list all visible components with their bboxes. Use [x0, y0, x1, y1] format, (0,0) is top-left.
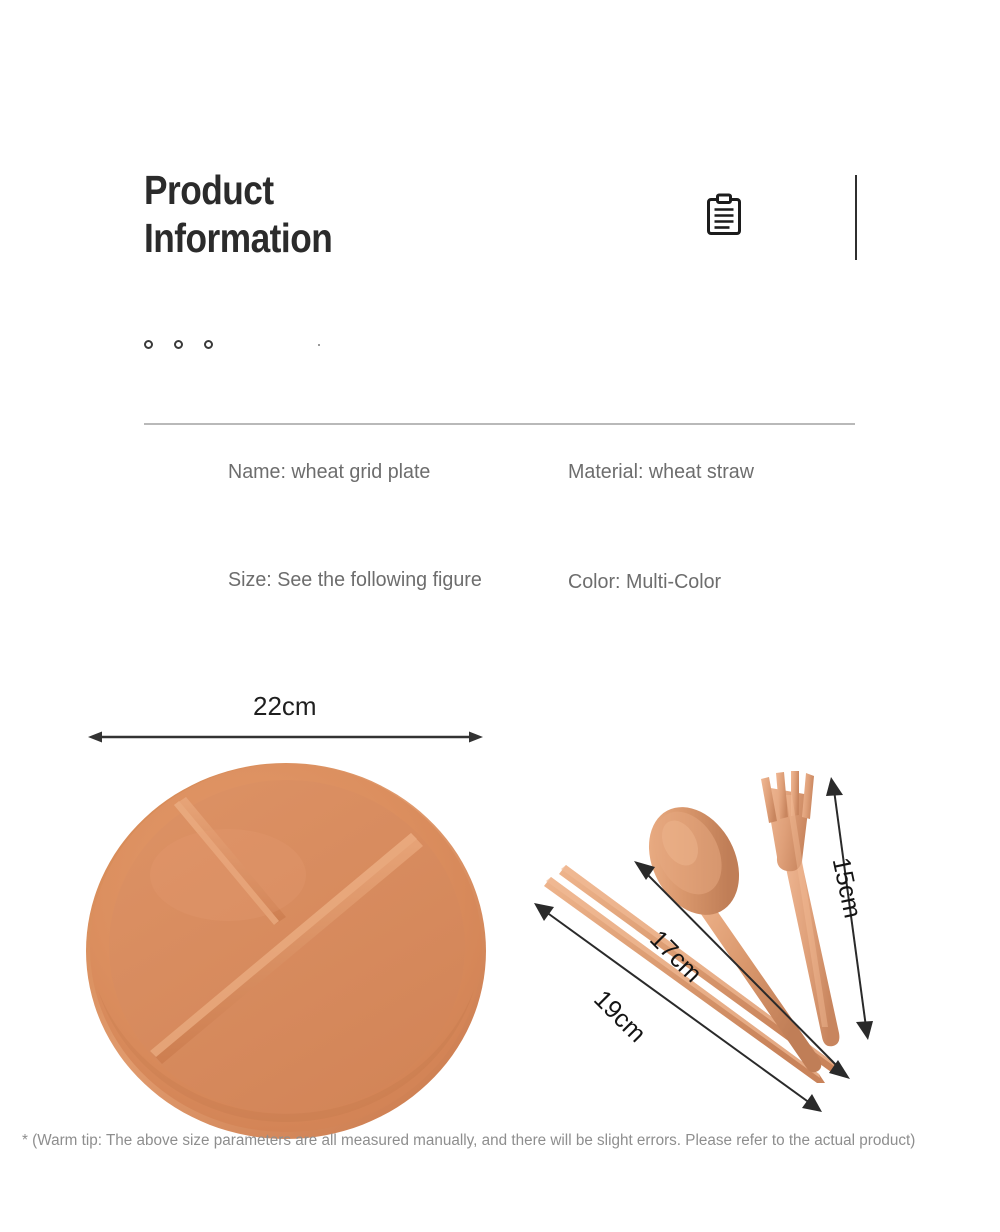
product-information-page: Product Information Name: wheat grid pla… — [0, 0, 1000, 1232]
ring-dot-icon — [204, 340, 213, 349]
header-vertical-divider — [855, 175, 857, 260]
spec-color: Color: Multi-Color — [568, 570, 721, 594]
ring-dot-icon — [144, 340, 153, 349]
spec-size: Size: See the following figure — [228, 568, 482, 592]
cutlery-image — [528, 765, 898, 1140]
plate-dimension-arrow — [88, 730, 483, 744]
spec-divider — [144, 423, 855, 425]
spec-material: Material: wheat straw — [568, 460, 754, 484]
ring-dot-icon — [174, 340, 183, 349]
spec-name: Name: wheat grid plate — [228, 460, 430, 484]
spec-list: Name: wheat grid plate Material: wheat s… — [144, 450, 904, 670]
micro-dot-icon — [318, 344, 320, 346]
product-figure: 22cm — [0, 690, 1000, 1150]
warm-tip-note: * (Warm tip: The above size parameters a… — [22, 1131, 968, 1151]
plate-image — [78, 755, 494, 1145]
spec-row: Size: See the following figure Color: Mu… — [144, 560, 904, 670]
spec-row: Name: wheat grid plate Material: wheat s… — [144, 450, 904, 560]
header: Product Information — [144, 166, 864, 276]
plate-dimension-label: 22cm — [253, 691, 317, 722]
page-title: Product Information — [144, 166, 332, 262]
clipboard-icon — [700, 192, 748, 240]
decor-dots — [144, 338, 344, 358]
